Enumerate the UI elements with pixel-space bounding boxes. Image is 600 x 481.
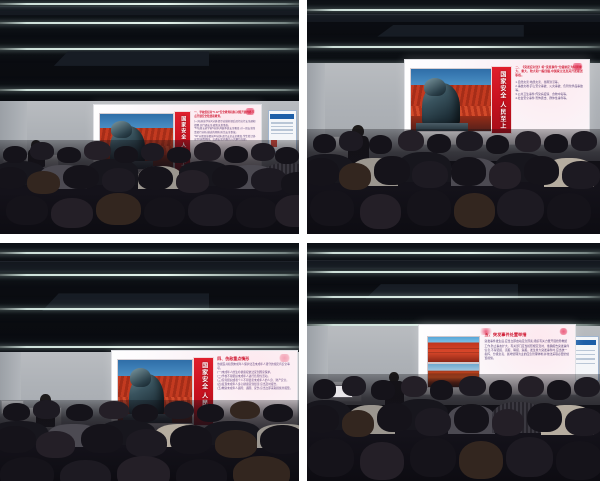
ceiling-beam: [307, 260, 600, 269]
audience-head: [194, 142, 221, 161]
audience-head: [489, 162, 521, 188]
audience-head: [574, 377, 600, 397]
audience-head: [36, 431, 75, 458]
lecture-hall-scene: 国家安全 人民至上 二、《突发应对法》将"突发事件"分级制定为特别重大、重大、较…: [307, 0, 600, 234]
audience-head: [547, 380, 570, 399]
audience-head: [176, 170, 209, 192]
audience-head: [407, 189, 451, 226]
audience-head: [215, 430, 257, 458]
audience-head: [144, 197, 186, 228]
audience-head: [3, 403, 30, 421]
roof-eave-line: [428, 348, 479, 349]
audience-head: [99, 401, 129, 420]
audience-head: [515, 131, 541, 152]
slide-body-text: (一)每天放学前1分钟,提示应做好课后进行这行安全通知提醒,实行通安全,避免突发…: [194, 120, 256, 142]
ceiling-light-strip: [307, 271, 600, 273]
audience-head: [454, 404, 489, 433]
audience-head: [197, 404, 224, 422]
audience-head: [126, 429, 168, 457]
audience-head: [339, 131, 362, 151]
audience-head: [307, 405, 339, 433]
audience-head: [492, 409, 524, 436]
audience-head: [430, 380, 453, 399]
slide-temple-roof-photo: [427, 336, 480, 363]
audience-head: [556, 441, 600, 480]
audience-head: [489, 380, 512, 399]
audience-head: [313, 379, 336, 398]
audience-head: [57, 147, 81, 163]
bronze-lion-head: [111, 121, 132, 138]
audience-head: [188, 194, 233, 226]
audience-head: [63, 165, 99, 189]
ceiling-light-strip: [307, 252, 600, 254]
slide-heading: 四、伤敌重点情形: [217, 356, 293, 361]
audience-head: [412, 161, 447, 187]
bronze-lion-head: [130, 368, 151, 387]
slide-banner-text: 国家安全 人民至上: [499, 71, 505, 130]
slide-text-block: 二、《突发应对法》将"突发事件"分级制定为特别重大、重大、较大和一般四级,中国家…: [515, 66, 583, 137]
ceiling-duct: [54, 51, 210, 65]
poster-header-bar: [270, 114, 294, 119]
ceiling-light-strip: [0, 308, 299, 310]
audience-head: [84, 141, 111, 160]
ceiling-light-strip: [0, 274, 299, 276]
audience-head: [132, 404, 159, 422]
audience-head: [230, 401, 260, 420]
audience-head: [60, 460, 111, 481]
ceiling-light-strip: [0, 89, 299, 91]
ceiling-duct: [377, 25, 524, 37]
audience-head: [410, 437, 457, 477]
audience-head: [451, 157, 486, 185]
audience-head: [0, 167, 27, 189]
audience-head: [0, 457, 54, 481]
audience-head: [30, 142, 54, 160]
audience-head: [233, 456, 290, 481]
audience-head: [518, 376, 544, 397]
collage-panel-top-left: 国家安全 人民至上 一、学校组织对"5.12"安全教育机制,对照开展的各节点开展…: [0, 0, 299, 234]
audience-head: [138, 166, 174, 190]
audience-head: [547, 193, 591, 229]
audience-head: [562, 161, 600, 188]
audience-head: [497, 189, 544, 226]
ceiling: [0, 0, 299, 103]
audience-head: [27, 171, 60, 193]
slide-body-text: 1.自然灾害:地质灾害、暴雨洪涝等。 2.事故灾难:矿山安全事故、火灾事故、危险…: [515, 80, 583, 100]
audience-head: [275, 147, 299, 164]
audience-head: [371, 380, 394, 399]
audience-head: [167, 147, 191, 163]
audience-head: [102, 168, 135, 191]
collage-panel-bottom-left: 国家安全 人民至上 四、伤敌重点情形 依据民共和国未成年人保护法及未成年人遵守的…: [0, 243, 299, 481]
ceiling: [307, 0, 600, 66]
lecture-hall-scene: 五、突发事件处置举措 突发事件发生后,应当立即启动应急预案,组织有关力量开展抢险…: [307, 243, 600, 481]
audience-head: [544, 134, 567, 153]
slide-body-text: 依据民共和国未成年人保护法及未成年人遵守的规定有安全事项。 (一)未成年人的生命…: [217, 363, 293, 390]
poster-text-line: [271, 126, 294, 128]
poster-text-line: [271, 122, 294, 124]
lecture-hall-scene: 国家安全 人民至上 四、伤敌重点情形 依据民共和国未成年人保护法及未成年人遵守的…: [0, 243, 299, 481]
audience-head: [506, 437, 553, 477]
audience-head: [571, 131, 597, 151]
slide-heading: 二、《突发应对法》将"突发事件"分级制定为特别重大、重大、较大和一般四级,中国家…: [515, 66, 583, 78]
photo-collage: 国家安全 人民至上 一、学校组织对"5.12"安全教育机制,对照开展的各节点开展…: [0, 0, 600, 481]
audience-head: [281, 172, 299, 194]
audience-head: [236, 197, 278, 228]
collage-panel-top-right: 国家安全 人民至上 二、《突发应对法》将"突发事件"分级制定为特别重大、重大、较…: [307, 0, 600, 234]
ceiling-beam: [307, 14, 600, 22]
roof-eave-line: [428, 352, 479, 353]
audience-head: [141, 143, 165, 161]
ceiling-light-strip: [0, 22, 299, 24]
audience-head: [459, 441, 503, 478]
audience-head: [339, 163, 371, 189]
audience-head: [66, 404, 93, 421]
slide-heading: 一、学校组织对"5.12"安全教育机制,对照开展的各节点开展安全隐患和教育。: [194, 111, 256, 118]
ceiling-light-strip: [307, 46, 600, 48]
audience-head: [114, 146, 138, 163]
audience-head: [486, 135, 509, 154]
audience-head: [275, 195, 299, 227]
audience-head: [81, 424, 123, 453]
slide-lion-photo: [410, 68, 491, 132]
audience-head: [524, 156, 559, 184]
audience-head: [342, 376, 365, 396]
audience-head: [260, 425, 299, 454]
audience-head: [454, 193, 495, 228]
ceiling-beam: [0, 6, 299, 15]
ceiling-light-strip: [307, 296, 600, 298]
slide-body-text: 突发事件发生后,应当立即启动应急预案,组织有关力量开展抢险救援工作,防止事态扩大…: [485, 339, 570, 359]
audience-head: [164, 401, 194, 420]
audience-head: [401, 376, 427, 397]
audience-head: [360, 194, 401, 229]
audience-head: [117, 456, 171, 481]
audience-head: [307, 158, 339, 185]
audience-head: [313, 134, 336, 153]
audience-head: [33, 400, 60, 419]
audience-head: [398, 130, 424, 151]
audience-area: [307, 129, 600, 234]
audience-head: [96, 193, 141, 225]
audience-head: [51, 198, 93, 228]
audience-head: [427, 134, 450, 153]
audience-head: [374, 156, 409, 184]
audience-head: [415, 408, 450, 436]
collage-panel-bottom-right: 五、突发事件处置举措 突发事件发生后,应当立即启动应急预案,组织有关力量开展抢险…: [307, 243, 600, 481]
lecture-hall-scene: 国家安全 人民至上 一、学校组织对"5.12"安全教育机制,对照开展的各节点开展…: [0, 0, 299, 234]
audience-head: [212, 165, 248, 189]
audience-head: [0, 426, 36, 454]
audience-head: [527, 403, 562, 432]
poster-text-line: [271, 133, 294, 135]
audience-head: [170, 425, 212, 454]
ceiling-beam: [0, 261, 299, 272]
ceiling-light-strip: [0, 3, 299, 5]
slide-red-banner: 国家安全 人民至上: [491, 66, 511, 134]
audience-head: [342, 410, 374, 437]
ceiling-light-strip: [0, 252, 299, 254]
ceiling-light-strip: [307, 9, 600, 11]
bronze-lion-head: [424, 78, 446, 97]
audience-head: [6, 195, 48, 225]
audience-area: [0, 140, 299, 234]
ceiling: [0, 243, 299, 355]
audience-head: [263, 404, 293, 422]
audience-head: [3, 146, 27, 163]
audience-head: [456, 131, 482, 151]
poster-text-line: [271, 129, 294, 131]
audience-head: [360, 442, 404, 479]
audience-head: [459, 376, 485, 396]
audience-head: [310, 190, 354, 226]
audience-area: [0, 400, 299, 481]
audience-head: [369, 135, 392, 154]
audience-head: [565, 408, 600, 436]
audience-head: [224, 146, 248, 163]
ceiling: [307, 243, 600, 329]
ceiling-light-strip: [0, 346, 299, 348]
slide-heading: 五、突发事件处置举措: [485, 332, 570, 338]
audience-head: [307, 438, 354, 477]
audience-head: [377, 403, 412, 432]
ceiling-light-strip: [0, 48, 299, 50]
audience-area: [307, 374, 600, 481]
audience-head: [251, 143, 275, 161]
audience-head: [176, 459, 227, 481]
